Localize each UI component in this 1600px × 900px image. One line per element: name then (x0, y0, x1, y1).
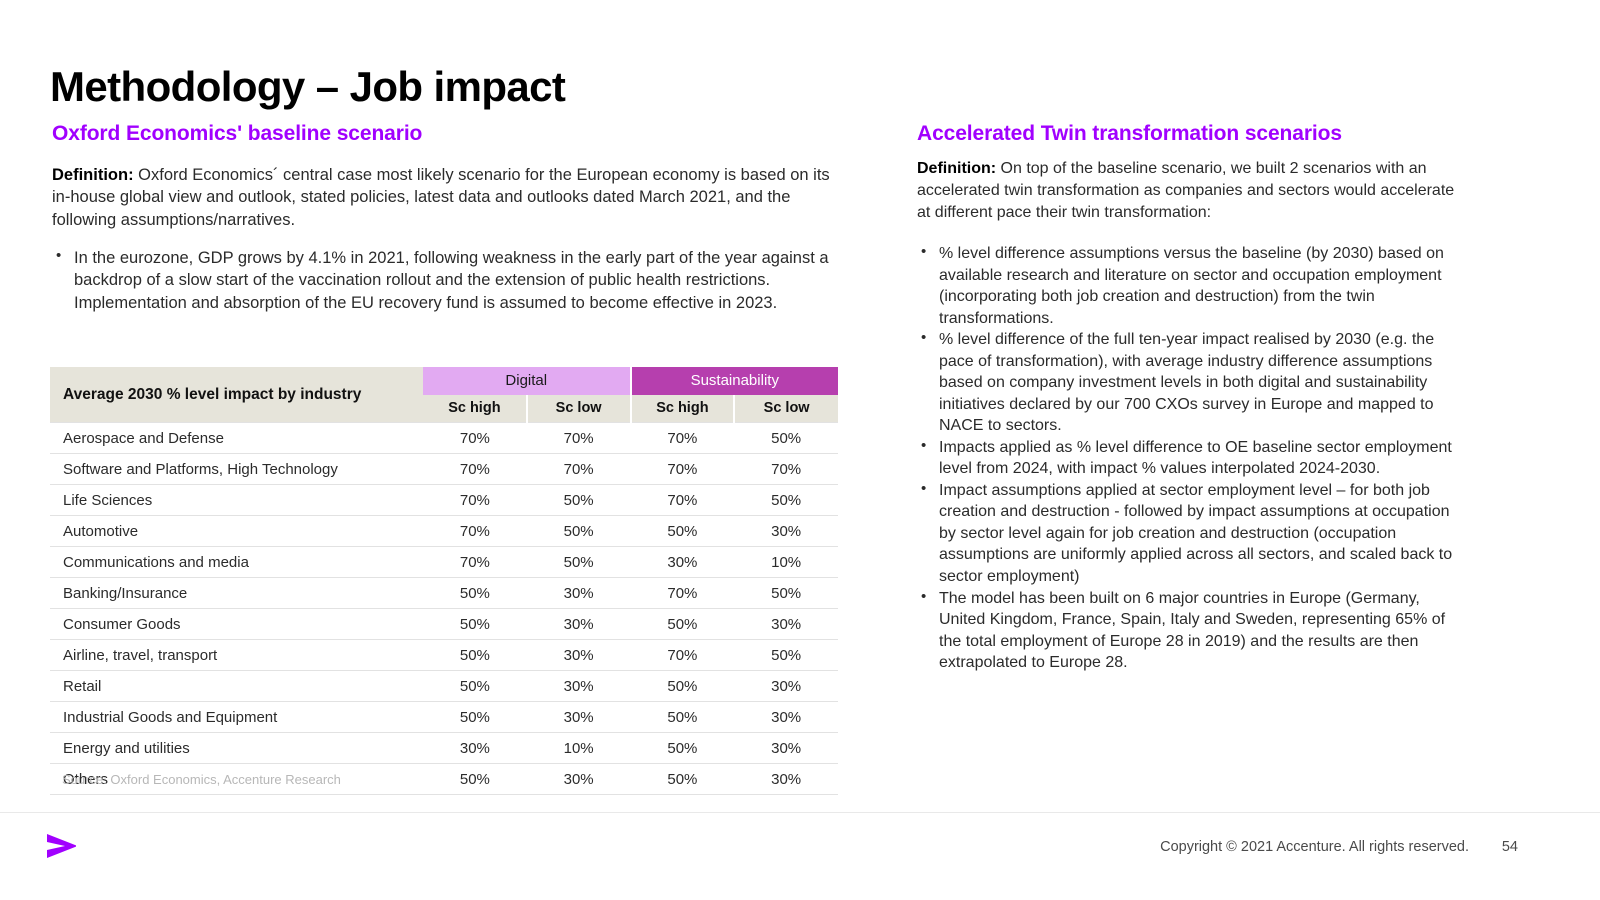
left-definition-label: Definition: (52, 166, 134, 184)
left-column: Oxford Economics' baseline scenario Defi… (52, 122, 852, 316)
table-row: Software and Platforms, High Technology7… (50, 454, 838, 485)
group-header-sustainability: Sustainability (631, 367, 839, 395)
table-cell-industry: Aerospace and Defense (50, 423, 423, 454)
page-number: 54 (1502, 839, 1518, 855)
table-cell-value: 30% (527, 578, 631, 609)
table-cell-industry: Industrial Goods and Equipment (50, 702, 423, 733)
right-section-heading: Accelerated Twin transformation scenario… (917, 122, 1462, 146)
table-cell-value: 70% (423, 485, 527, 516)
table-cell-value: 30% (734, 516, 838, 547)
table-cell-value: 50% (527, 516, 631, 547)
left-bullet-list: In the eurozone, GDP grows by 4.1% in 20… (52, 247, 852, 314)
table-cell-value: 30% (527, 671, 631, 702)
table-cell-value: 50% (734, 485, 838, 516)
table-cell-value: 50% (527, 547, 631, 578)
table-cell-value: 70% (631, 423, 735, 454)
impact-table: Average 2030 % level impact by industry … (50, 367, 838, 795)
list-item: Impacts applied as % level difference to… (917, 437, 1462, 480)
table-cell-value: 10% (527, 733, 631, 764)
table-cell-value: 70% (631, 485, 735, 516)
right-column: Accelerated Twin transformation scenario… (917, 122, 1462, 674)
column-header-digital-sc-low: Sc low (527, 395, 631, 423)
table-cell-industry: Software and Platforms, High Technology (50, 454, 423, 485)
table-cell-value: 30% (631, 547, 735, 578)
left-definition: Definition: Oxford Economics´ central ca… (52, 164, 852, 231)
table-cell-value: 50% (631, 609, 735, 640)
footer-divider (0, 812, 1600, 813)
impact-table-wrapper: Average 2030 % level impact by industry … (50, 367, 838, 795)
column-header-sustainability-sc-high: Sc high (631, 395, 735, 423)
table-cell-value: 50% (527, 485, 631, 516)
table-row: Consumer Goods50%30%50%30% (50, 609, 838, 640)
page-title: Methodology – Job impact (50, 64, 565, 110)
table-cell-industry: Communications and media (50, 547, 423, 578)
table-cell-value: 30% (734, 702, 838, 733)
table-cell-value: 70% (423, 547, 527, 578)
table-cell-value: 50% (734, 578, 838, 609)
left-definition-text: Oxford Economics´ central case most like… (52, 166, 830, 229)
table-cell-value: 30% (734, 609, 838, 640)
list-item: % level difference assumptions versus th… (917, 243, 1462, 329)
table-cell-industry: Banking/Insurance (50, 578, 423, 609)
table-cell-value: 70% (527, 454, 631, 485)
accenture-chevron-logo-icon (45, 831, 79, 861)
right-definition: Definition: On top of the baseline scena… (917, 158, 1462, 223)
table-cell-value: 30% (734, 671, 838, 702)
footer-copyright: Copyright © 2021 Accenture. All rights r… (1160, 839, 1469, 855)
list-item: Impact assumptions applied at sector emp… (917, 480, 1462, 588)
table-cell-value: 70% (631, 454, 735, 485)
column-header-sustainability-sc-low: Sc low (734, 395, 838, 423)
table-title-cell: Average 2030 % level impact by industry (50, 367, 423, 423)
source-note: Source: Oxford Economics, Accenture Rese… (62, 772, 341, 787)
table-row: Life Sciences70%50%70%50% (50, 485, 838, 516)
list-item: % level difference of the full ten-year … (917, 329, 1462, 437)
list-item: The model has been built on 6 major coun… (917, 588, 1462, 674)
table-row: Aerospace and Defense70%70%70%50% (50, 423, 838, 454)
table-cell-industry: Consumer Goods (50, 609, 423, 640)
left-section-heading: Oxford Economics' baseline scenario (52, 122, 852, 146)
table-cell-value: 70% (734, 454, 838, 485)
table-cell-industry: Retail (50, 671, 423, 702)
table-cell-value: 10% (734, 547, 838, 578)
table-cell-value: 50% (423, 702, 527, 733)
table-cell-value: 70% (631, 578, 735, 609)
table-cell-value: 50% (631, 733, 735, 764)
impact-table-head: Average 2030 % level impact by industry … (50, 367, 838, 423)
group-header-digital: Digital (423, 367, 631, 395)
table-cell-industry: Airline, travel, transport (50, 640, 423, 671)
table-cell-value: 70% (423, 454, 527, 485)
slide-root: Methodology – Job impact Oxford Economic… (0, 0, 1600, 900)
table-row: Retail50%30%50%30% (50, 671, 838, 702)
table-cell-value: 50% (734, 640, 838, 671)
table-cell-value: 50% (423, 609, 527, 640)
table-row: Airline, travel, transport50%30%70%50% (50, 640, 838, 671)
table-cell-value: 30% (527, 764, 631, 795)
table-cell-value: 70% (631, 640, 735, 671)
table-cell-value: 30% (423, 733, 527, 764)
table-cell-industry: Energy and utilities (50, 733, 423, 764)
table-row: Communications and media70%50%30%10% (50, 547, 838, 578)
table-row: Automotive70%50%50%30% (50, 516, 838, 547)
impact-table-body: Aerospace and Defense70%70%70%50%Softwar… (50, 423, 838, 795)
table-cell-value: 70% (527, 423, 631, 454)
table-group-header-row: Average 2030 % level impact by industry … (50, 367, 838, 395)
table-row: Banking/Insurance50%30%70%50% (50, 578, 838, 609)
table-cell-industry: Life Sciences (50, 485, 423, 516)
column-header-digital-sc-high: Sc high (423, 395, 527, 423)
table-cell-value: 50% (423, 671, 527, 702)
table-cell-value: 30% (527, 609, 631, 640)
table-cell-value: 50% (734, 423, 838, 454)
table-cell-value: 50% (631, 702, 735, 733)
table-cell-value: 50% (631, 516, 735, 547)
table-cell-value: 50% (631, 764, 735, 795)
table-cell-value: 30% (527, 702, 631, 733)
right-definition-text: On top of the baseline scenario, we buil… (917, 160, 1454, 221)
table-cell-value: 30% (527, 640, 631, 671)
right-definition-label: Definition: (917, 160, 996, 177)
table-cell-value: 70% (423, 516, 527, 547)
table-cell-value: 50% (423, 578, 527, 609)
table-row: Energy and utilities30%10%50%30% (50, 733, 838, 764)
table-cell-industry: Automotive (50, 516, 423, 547)
table-cell-value: 70% (423, 423, 527, 454)
table-cell-value: 30% (734, 733, 838, 764)
table-cell-value: 50% (631, 671, 735, 702)
table-cell-value: 30% (734, 764, 838, 795)
list-item: In the eurozone, GDP grows by 4.1% in 20… (52, 247, 852, 314)
table-cell-value: 50% (423, 640, 527, 671)
table-row: Industrial Goods and Equipment50%30%50%3… (50, 702, 838, 733)
right-bullet-list: % level difference assumptions versus th… (917, 243, 1462, 673)
table-cell-value: 50% (423, 764, 527, 795)
